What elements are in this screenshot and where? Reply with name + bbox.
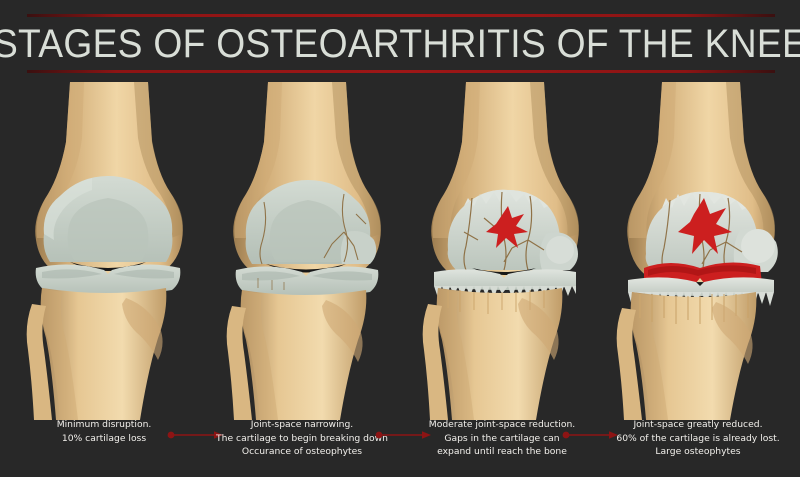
caption-line: Joint-space narrowing. [204, 418, 400, 432]
osteoarthritis-stages-poster: STAGES OF OSTEOARTHRITIS OF THE KNEE [0, 0, 800, 477]
title-band: STAGES OF OSTEOARTHRITIS OF THE KNEE [0, 0, 800, 85]
knee-diagram-stage-3 [404, 82, 604, 420]
caption-line: 60% of the cartilage is already lost. [600, 432, 796, 446]
knee-diagram-row [0, 82, 800, 420]
caption-row: Minimum disruption. 10% cartilage loss J… [0, 418, 800, 477]
page-title: STAGES OF OSTEOARTHRITIS OF THE KNEE [28, 18, 772, 70]
caption-line: The cartilage to begin breaking down [204, 432, 400, 446]
caption-line: Large osteophytes [600, 445, 796, 459]
knee-diagram-stage-1 [8, 82, 208, 420]
caption-line: Occurance of osteophytes [204, 445, 400, 459]
caption-stage-2: Joint-space narrowing. The cartilage to … [204, 418, 400, 459]
title-rule-bottom [27, 70, 775, 73]
knee-diagram-stage-2 [206, 82, 406, 420]
caption-line: expand until reach the bone [404, 445, 600, 459]
knee-diagram-stage-4 [600, 82, 800, 420]
title-rule-top [27, 14, 775, 17]
caption-stage-4: Joint-space greatly reduced. 60% of the … [600, 418, 796, 459]
caption-line: Joint-space greatly reduced. [600, 418, 796, 432]
